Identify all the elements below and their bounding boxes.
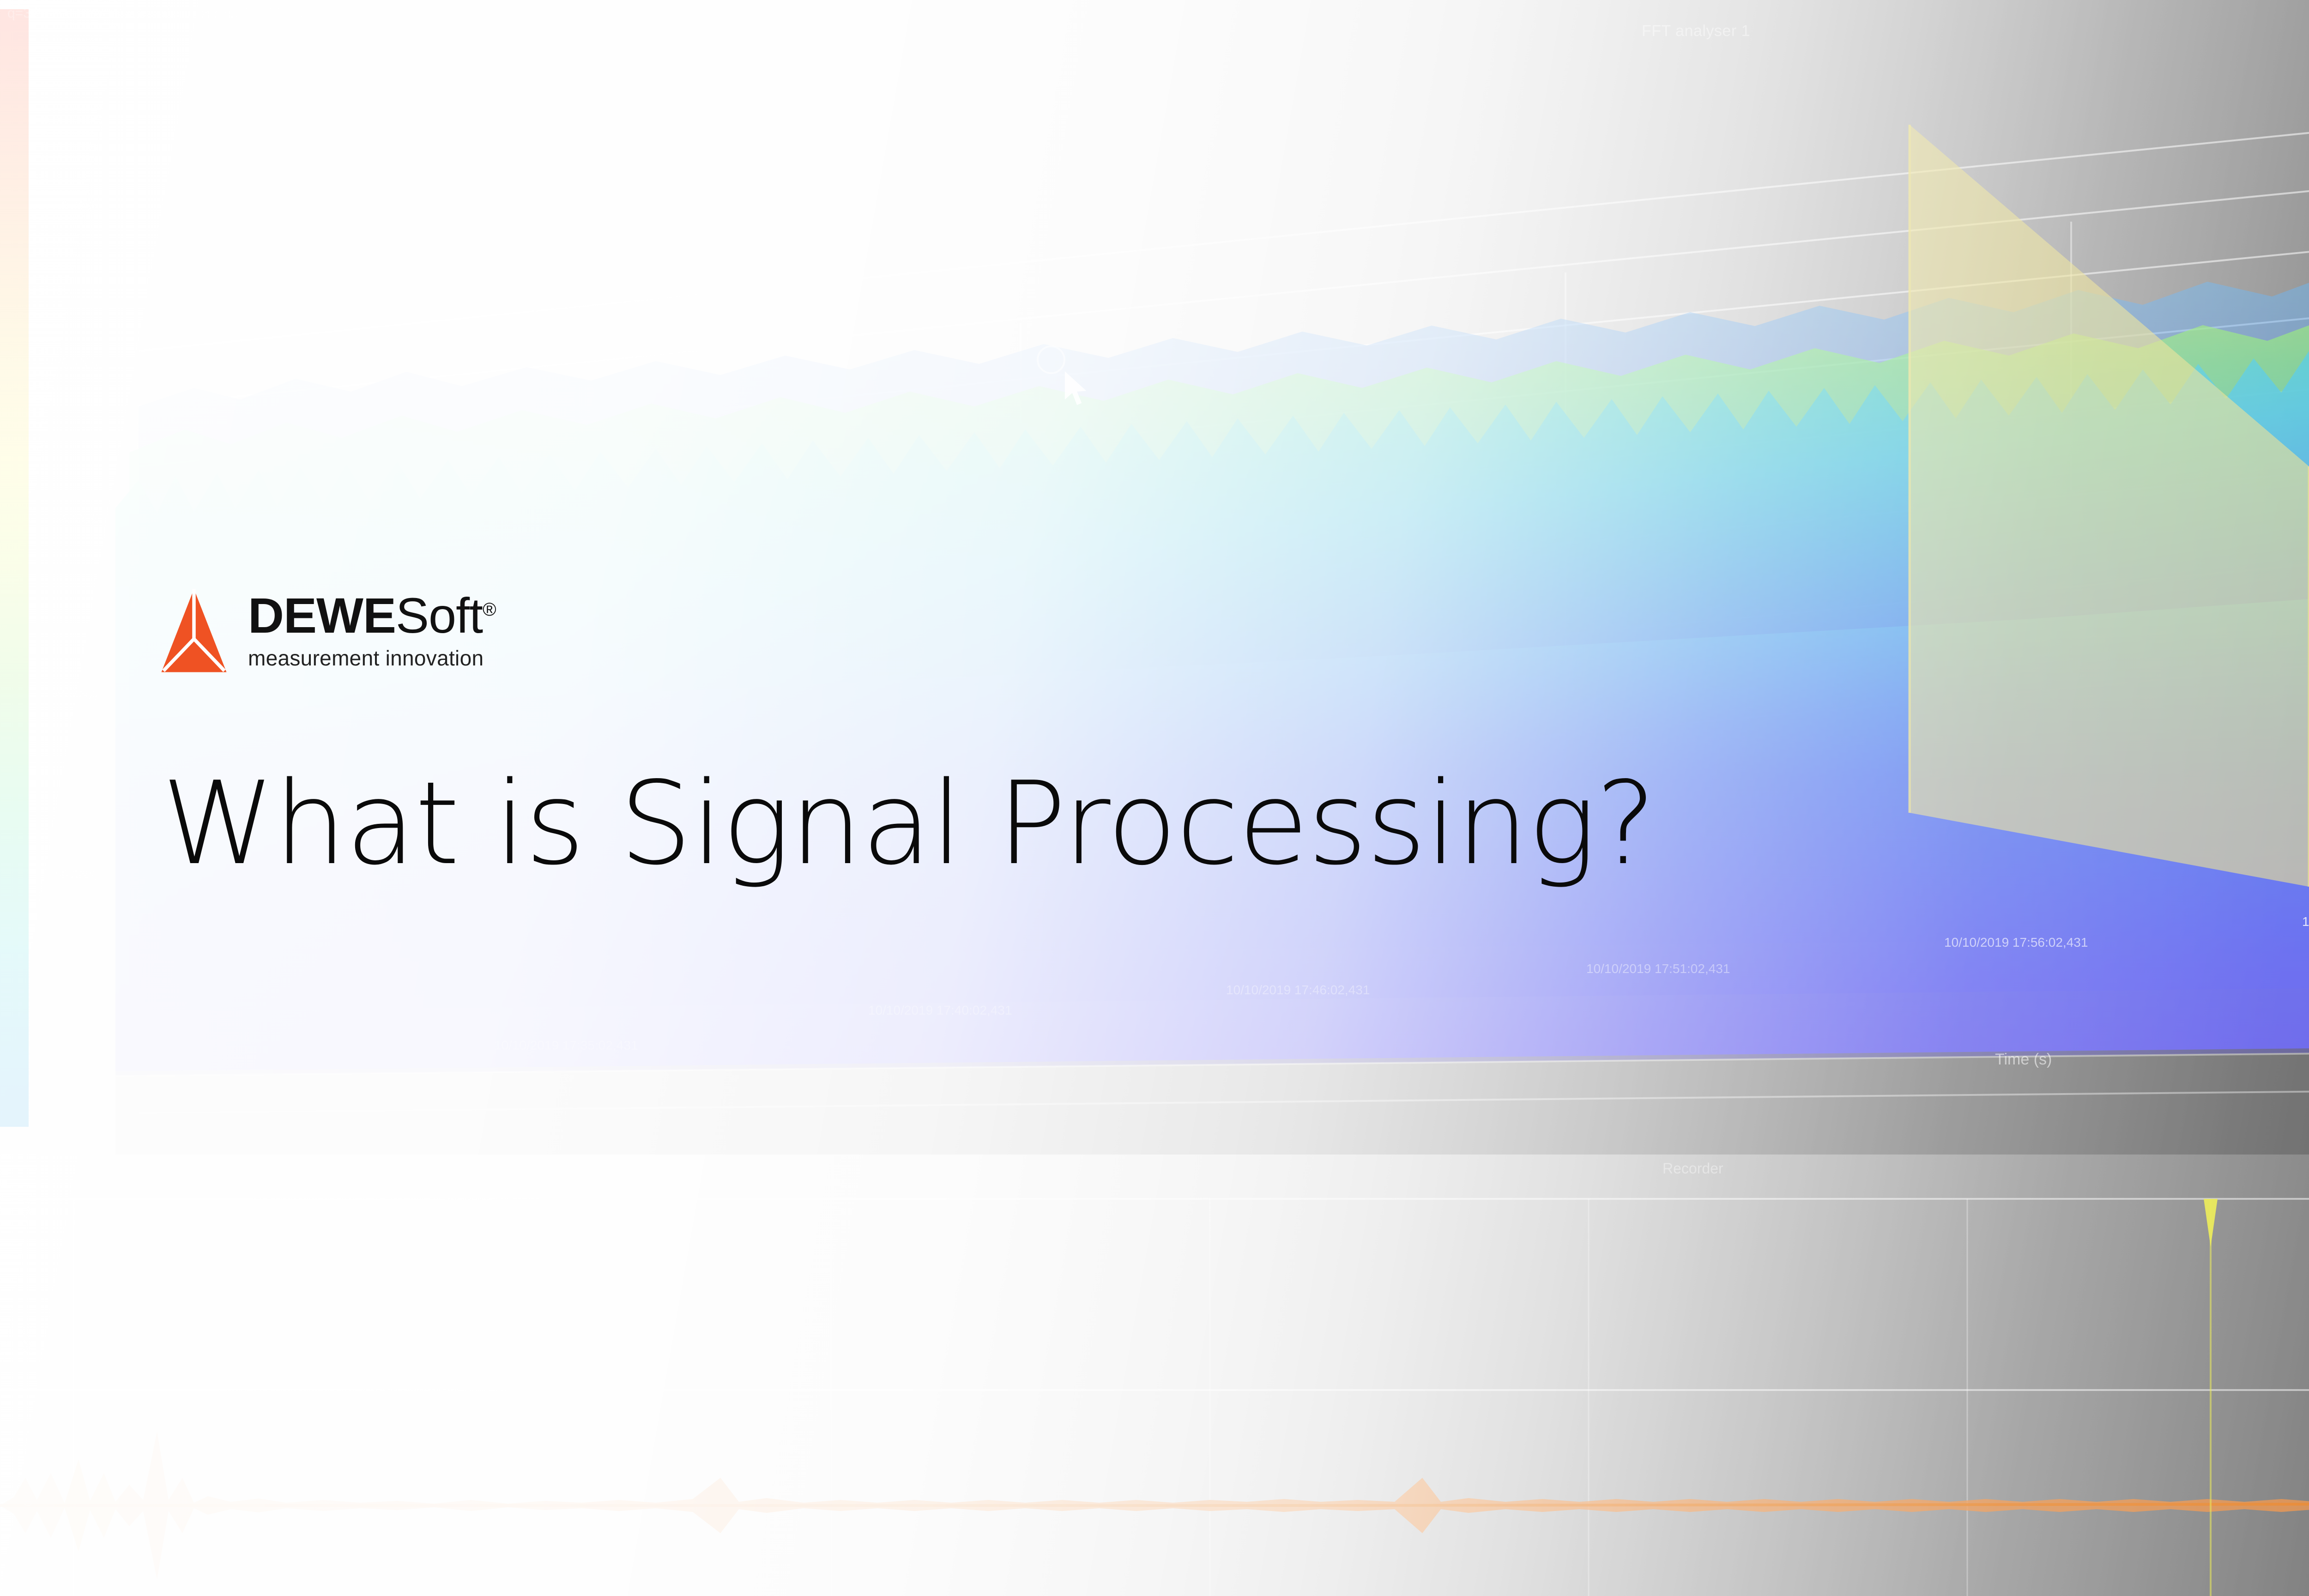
cursor-readout-secondary: 0,00 bbox=[69, 30, 95, 45]
brand-name-light: Soft bbox=[396, 587, 483, 643]
amplitude-color-scale bbox=[0, 9, 29, 1127]
time-tick-label: 10/10/2019 17:35:02,431 bbox=[494, 1038, 638, 1053]
cursor-readout: q=387,60, Time=10/10/2019 17:47:45,83189… bbox=[7, 6, 374, 21]
page-title: What is Signal Processing? bbox=[162, 757, 1656, 890]
brand-tagline: measurement innovation bbox=[248, 646, 496, 671]
brand-name: DEWESoft® bbox=[248, 592, 496, 640]
dewesoft-logo: DEWESoft® measurement innovation bbox=[159, 587, 496, 675]
time-tick-label: 10/10/2019 17:51:02,431 bbox=[1586, 961, 1730, 976]
fft-analyser-panel[interactable]: q=387,60, Time=10/10/2019 17:47:45,83189… bbox=[0, 0, 2309, 1155]
time-tick-label: 10/10/2019 17:46:02,431 bbox=[1226, 983, 1370, 997]
recorder-y-tick: 0,000 bbox=[22, 1325, 35, 1353]
amplitude-tick: -50,0000 bbox=[51, 868, 98, 883]
data-marker-circle[interactable] bbox=[1037, 345, 1065, 374]
screenshot-root: q=387,60, Time=10/10/2019 17:47:45,83189… bbox=[0, 0, 2309, 1596]
recorder-waveform bbox=[0, 1155, 2309, 1596]
recorder-panel-title: Recorder bbox=[1662, 1160, 1723, 1177]
amplitude-tick: -40,0000 bbox=[51, 688, 98, 702]
amplitude-tick: -30,0000 bbox=[51, 513, 98, 527]
cursor-plane[interactable] bbox=[0, 0, 2309, 1155]
time-tick-label: 10/10/2019 17:40:02,431 bbox=[868, 1003, 1012, 1018]
mouse-pointer-icon bbox=[1062, 369, 1094, 411]
dewesoft-triangle-logo bbox=[159, 587, 229, 675]
time-axis-label: Time (s) bbox=[1995, 1051, 2052, 1069]
amplitude-tick: -10,0000 bbox=[51, 199, 98, 213]
registered-mark: ® bbox=[483, 599, 496, 620]
recorder-panel[interactable] bbox=[0, 1155, 2309, 1596]
amplitude-tick: -20,0000 bbox=[51, 356, 98, 370]
brand-name-bold: DEWE bbox=[248, 587, 396, 643]
recorder-y-tick: 0,317 bbox=[22, 1191, 35, 1219]
time-tick-label: 10/10/2019 18:01:02,431 bbox=[2302, 914, 2309, 929]
fft-panel-title: FFT analyser 1 bbox=[1642, 22, 1750, 40]
recorder-y-tick: -0,310 bbox=[22, 1479, 35, 1510]
time-tick-label: 10/10/2019 17:56:02,431 bbox=[1944, 935, 2088, 950]
